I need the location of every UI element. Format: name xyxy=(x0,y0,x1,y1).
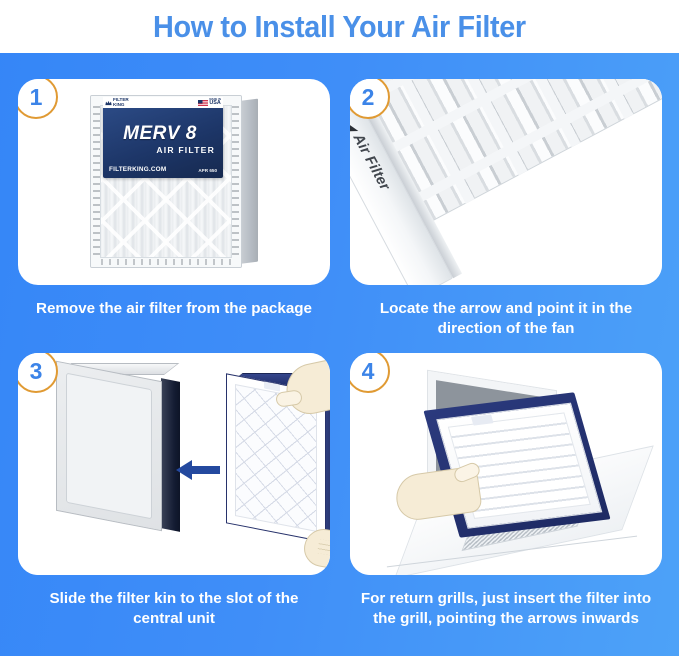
filter-corner-closeup: Air Filter xyxy=(350,79,662,285)
how-to-install-air-filter-infographic: How to Install Your Air Filter 1 xyxy=(0,0,679,656)
central-unit-recess xyxy=(66,373,152,520)
air-filter-subtitle: AIR FILTER xyxy=(103,145,215,155)
step-4-image-card: 4 xyxy=(350,353,662,575)
step-card-1: 1 xyxy=(18,79,330,319)
apr-rating-text: APR 650 xyxy=(198,168,217,173)
step-2-caption: Locate the arrow and point it in the dir… xyxy=(350,299,662,339)
merv8-filter-product: FILTER KING xyxy=(90,95,258,268)
brand-text: FILTER KING xyxy=(113,98,129,107)
filter-front-face: FILTER KING xyxy=(90,95,242,268)
step-1-image-card: 1 xyxy=(18,79,330,285)
step-card-3: 3 xyxy=(18,353,330,629)
step-2-image-card: 2 Air Filter xyxy=(350,79,662,285)
step-card-2: 2 Air Filter Locate xyxy=(350,79,662,339)
central-unit-slot-side xyxy=(161,378,180,532)
header-band: How to Install Your Air Filter xyxy=(0,0,679,53)
central-unit-face xyxy=(56,361,162,532)
label-header-strip: FILTER KING xyxy=(103,97,223,108)
brand-line-2: KING xyxy=(113,102,124,107)
step-2-illustration: Air Filter xyxy=(350,79,662,285)
website-text: FILTERKING.COM xyxy=(109,166,166,173)
made-in-usa-mark: MADE IN USA xyxy=(198,99,221,107)
frame-ticks-left xyxy=(93,106,100,257)
step-3-illustration xyxy=(18,353,330,575)
country-text: USA xyxy=(209,100,220,106)
page-title: How to Install Your Air Filter xyxy=(153,9,526,45)
merv-rating-text: MERV 8 xyxy=(103,123,217,145)
filter-king-logo: FILTER KING xyxy=(105,98,129,107)
frame-ticks-right xyxy=(232,106,239,257)
step-3-caption: Slide the filter kin to the slot of the … xyxy=(18,589,330,629)
step-1-illustration: FILTER KING xyxy=(18,79,330,285)
step-3-image-card: 3 xyxy=(18,353,330,575)
steps-grid: 1 xyxy=(0,53,679,656)
usa-text: MADE IN USA xyxy=(209,99,221,107)
insert-direction-arrow-icon xyxy=(176,457,220,483)
crown-icon xyxy=(105,100,112,106)
product-label: FILTER KING xyxy=(103,106,223,178)
label-footer: FILTERKING.COM APR 650 xyxy=(109,166,217,173)
step-1-caption: Remove the air filter from the package xyxy=(18,299,330,319)
step-card-4: 4 xyxy=(350,353,662,629)
frame-ticks-bottom xyxy=(101,259,231,265)
usa-flag-icon xyxy=(198,100,208,106)
step-4-caption: For return grills, just insert the filte… xyxy=(350,589,662,629)
step-4-illustration xyxy=(350,353,662,575)
